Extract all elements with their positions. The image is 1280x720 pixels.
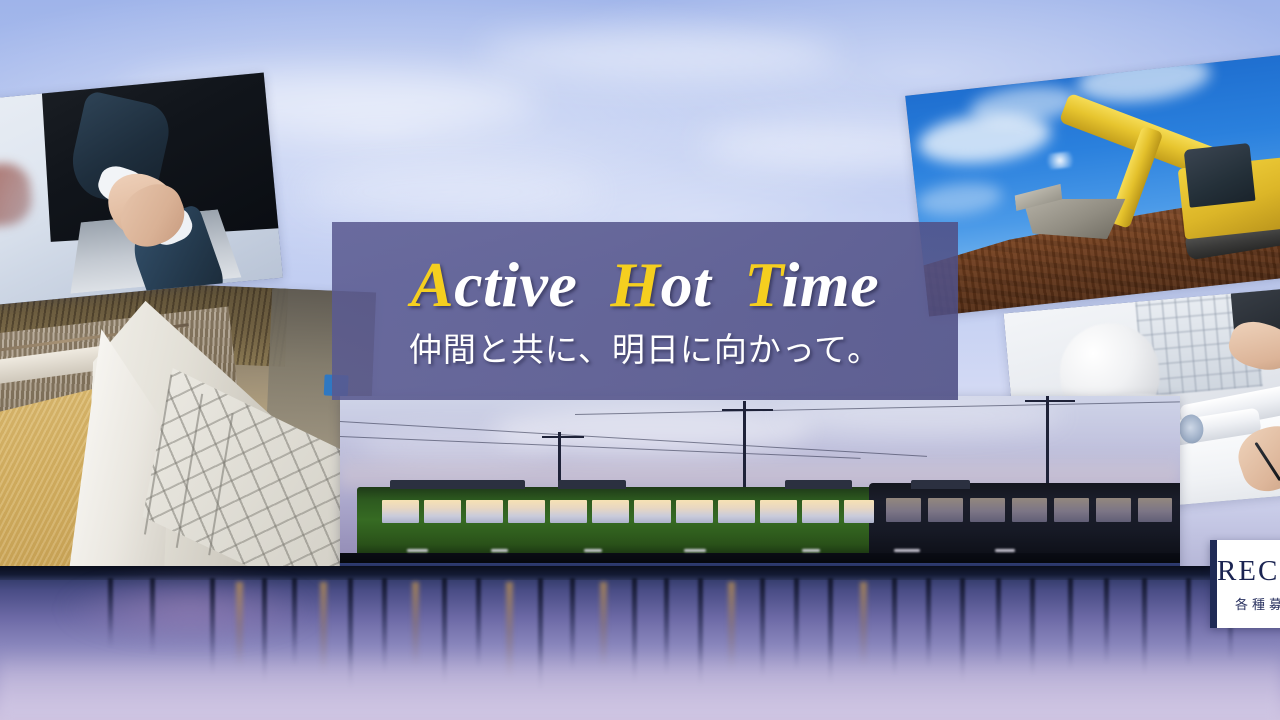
water-reflection <box>0 566 1280 720</box>
excavator-photo <box>905 53 1280 316</box>
handshake-photo <box>0 73 283 306</box>
title-word-2-lead: H <box>610 249 660 320</box>
title-word-3-lead: T <box>744 249 781 320</box>
page-title: Active Hot Time <box>411 251 879 318</box>
title-word-1-rest: ctive <box>454 249 577 320</box>
train-photo <box>340 396 1180 578</box>
title-word-1-lead: A <box>411 249 454 320</box>
recruit-badge-title: RECRUIT <box>1217 555 1280 588</box>
recruit-badge[interactable]: RECRUIT 各種募集要項 <box>1210 540 1280 628</box>
hero-title-panel: Active Hot Time 仲間と共に、明日に向かって。 <box>332 222 958 400</box>
title-word-2-rest: ot <box>661 249 712 320</box>
railway-wall-photo <box>0 276 376 592</box>
recruit-badge-subtitle: 各種募集要項 <box>1235 594 1280 613</box>
page-subtitle: 仲間と共に、明日に向かって。 <box>409 323 881 371</box>
title-word-3-rest: ime <box>782 249 879 320</box>
hero-banner: Active Hot Time 仲間と共に、明日に向かって。 RECRUIT 各… <box>0 0 1280 720</box>
